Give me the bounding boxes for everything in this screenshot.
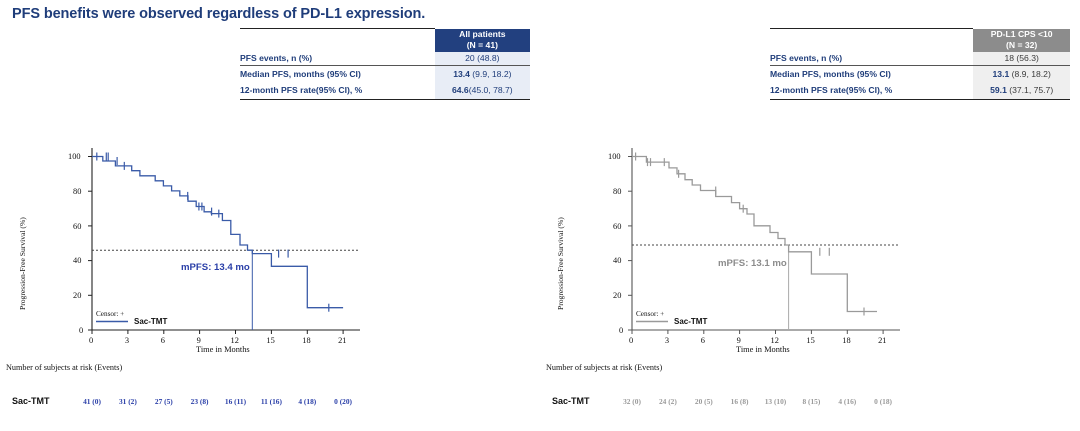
- risk-value: 24 (2): [659, 397, 677, 406]
- y-tick-100: 100: [608, 152, 621, 161]
- x-tick-21: 21: [878, 336, 886, 345]
- risk-value: 27 (5): [155, 397, 173, 406]
- x-tick-12: 12: [231, 336, 239, 345]
- panel-all-patients: All patients (N = 41) PFS events, n (%) …: [0, 0, 540, 431]
- censor-marks: [636, 153, 864, 316]
- risk-value: 11 (16): [261, 397, 282, 406]
- mpfs-annotation: mPFS: 13.1 mo: [718, 258, 787, 269]
- y-tick-0: 0: [619, 326, 623, 335]
- km-plot-svg: [0, 0, 540, 360]
- x-tick-15: 15: [806, 336, 814, 345]
- y-tick-80: 80: [613, 187, 621, 196]
- y-tick-100: 100: [68, 152, 81, 161]
- axes: [88, 148, 360, 334]
- risk-row-label: Sac-TMT: [552, 396, 590, 406]
- x-tick-6: 6: [701, 336, 705, 345]
- y-tick-60: 60: [613, 222, 621, 231]
- censor-marks: [97, 153, 329, 312]
- mpfs-annotation: mPFS: 13.4 mo: [181, 262, 250, 273]
- risk-value: 0 (18): [874, 397, 892, 406]
- km-curve: [92, 157, 343, 308]
- risk-value: 0 (20): [334, 397, 352, 406]
- x-tick-6: 6: [161, 336, 165, 345]
- km-chart-pdl1-cps-lt10: Progression-Free Survival (%): [540, 0, 1080, 360]
- x-tick-15: 15: [266, 336, 274, 345]
- legend-series-label: Sac-TMT: [134, 317, 167, 326]
- risk-value: 23 (8): [191, 397, 209, 406]
- risk-value: 32 (0): [623, 397, 641, 406]
- risk-value: 41 (0): [83, 397, 101, 406]
- x-axis-title: Time in Months: [196, 345, 250, 354]
- x-tick-9: 9: [197, 336, 201, 345]
- x-tick-18: 18: [842, 336, 850, 345]
- risk-table-title: Number of subjects at risk (Events): [6, 363, 122, 372]
- risk-value: 13 (10): [765, 397, 787, 406]
- y-tick-80: 80: [73, 187, 81, 196]
- legend-censor-label: Censor: +: [96, 310, 124, 318]
- risk-value: 8 (15): [802, 397, 820, 406]
- km-plot-svg: [540, 0, 1080, 360]
- x-tick-3: 3: [665, 336, 669, 345]
- risk-table-title: Number of subjects at risk (Events): [546, 363, 662, 372]
- y-tick-20: 20: [613, 291, 621, 300]
- x-tick-0: 0: [629, 336, 633, 345]
- risk-value: 4 (18): [298, 397, 316, 406]
- x-tick-18: 18: [302, 336, 310, 345]
- risk-value: 16 (8): [731, 397, 749, 406]
- y-tick-40: 40: [613, 256, 621, 265]
- risk-value: 4 (16): [838, 397, 856, 406]
- km-chart-all-patients: Progression-Free Survival (%): [0, 0, 540, 360]
- axes: [628, 148, 900, 334]
- y-tick-60: 60: [73, 222, 81, 231]
- km-curve: [632, 157, 877, 312]
- y-tick-40: 40: [73, 256, 81, 265]
- x-tick-0: 0: [89, 336, 93, 345]
- legend-censor-label: Censor: +: [636, 310, 664, 318]
- risk-value: 20 (5): [695, 397, 713, 406]
- legend-series-label: Sac-TMT: [674, 317, 707, 326]
- x-tick-12: 12: [771, 336, 779, 345]
- panel-pdl1-cps-lt10: PD-L1 CPS <10 (N = 32) PFS events, n (%)…: [540, 0, 1080, 431]
- y-tick-20: 20: [73, 291, 81, 300]
- risk-row-label: Sac-TMT: [12, 396, 50, 406]
- y-tick-0: 0: [79, 326, 83, 335]
- x-tick-21: 21: [338, 336, 346, 345]
- x-tick-9: 9: [737, 336, 741, 345]
- x-axis-title: Time in Months: [736, 345, 790, 354]
- x-tick-3: 3: [125, 336, 129, 345]
- risk-value: 31 (2): [119, 397, 137, 406]
- risk-value: 16 (11): [225, 397, 246, 406]
